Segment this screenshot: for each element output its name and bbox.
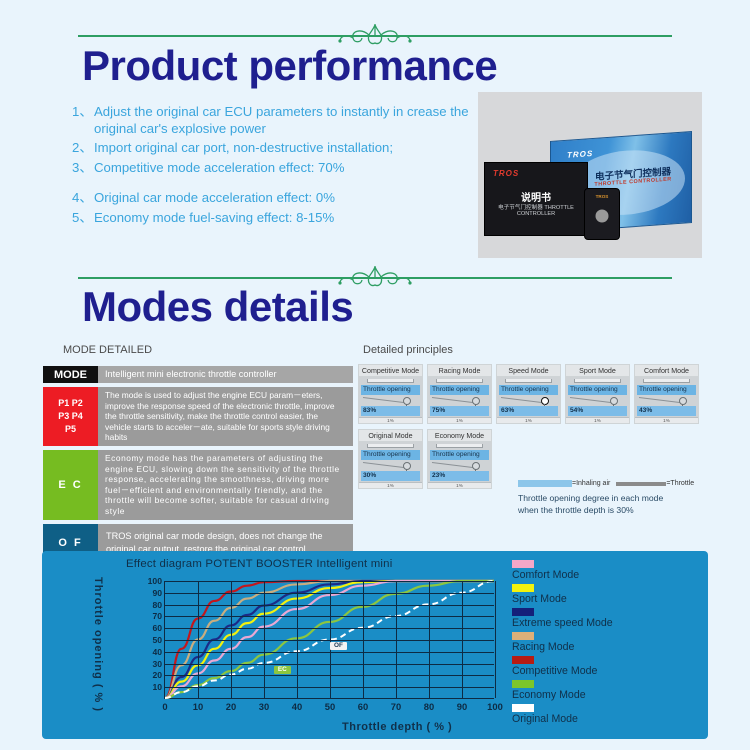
principle-legend: =Inhaling air =Throttle Throttle opening… — [518, 480, 733, 516]
principle-card: Economy ModeThrottle opening23%1% — [427, 429, 492, 489]
chart-x-tick-label: 40 — [292, 701, 302, 712]
chart-y-tick-label: 90 — [152, 588, 162, 598]
principle-card-gauge: Throttle opening63%1% — [497, 377, 560, 423]
chart-plot-area: 0102030405060708090100102030405060708090… — [164, 581, 494, 699]
gauge-marker-icon — [403, 397, 411, 405]
chart-y-tick-label: 60 — [152, 623, 162, 633]
throttle-opening-bar: Throttle opening — [568, 385, 627, 395]
chart-y-tick-label: 80 — [152, 600, 162, 610]
mode-table-key: P1 P2P3 P4P5 — [43, 387, 98, 446]
list-item-number: 4、 — [72, 190, 94, 207]
principle-card: Speed ModeThrottle opening63%1% — [496, 364, 561, 424]
chart-legend-label: Economy Mode — [512, 688, 702, 702]
gauge-foot-label: 1% — [635, 417, 698, 423]
list-item: 2、Import original car port, non-destruct… — [72, 140, 472, 157]
chart-legend-swatch — [512, 632, 534, 640]
chart-x-tick-label: 30 — [259, 701, 269, 712]
chart-gridline-horizontal — [165, 652, 494, 653]
chart-legend-swatch — [512, 680, 534, 688]
chart-annotation-of: OF — [330, 642, 347, 650]
principle-card-gauge: Throttle opening23%1% — [428, 442, 491, 488]
chart-gridline-horizontal — [165, 687, 494, 688]
gauge-foot-label: 1% — [359, 417, 422, 423]
chart-legend-swatch — [512, 704, 534, 712]
chart-gridline-vertical — [495, 581, 496, 698]
product-controller-device: TROS — [584, 188, 620, 240]
throttle-percent-bar: 83% — [361, 406, 420, 416]
throttle-opening-bar: Throttle opening — [430, 450, 489, 460]
chart-x-tick-label: 80 — [424, 701, 434, 712]
page-title-modes-details: Modes details — [82, 283, 353, 331]
product-performance-list: 1、Adjust the original car ECU parameters… — [72, 104, 472, 229]
inhaling-air-label: =Inhaling air — [572, 480, 610, 487]
chart-annotation-ec: EC — [274, 666, 291, 674]
gauge-slant-line — [570, 397, 612, 403]
chart-legend-label: Competitive Mode — [512, 664, 702, 678]
chart-x-tick-label: 100 — [487, 701, 503, 712]
mode-table-row: MODEIntelligent mini electronic throttle… — [43, 366, 353, 383]
gauge-slant-line — [432, 462, 474, 468]
gauge-marker-icon — [610, 397, 618, 405]
throttle-percent-bar: 43% — [637, 406, 696, 416]
caption-line-1: Throttle opening degree in each mode — [518, 492, 733, 504]
chart-gridline-horizontal — [165, 616, 494, 617]
throttle-opening-bar: Throttle opening — [430, 385, 489, 395]
gauge-marker-icon — [403, 462, 411, 470]
principle-card: Original ModeThrottle opening30%1% — [358, 429, 423, 489]
mode-table-description: Economy mode has the parameters of adjus… — [98, 450, 353, 520]
principle-card-title: Original Mode — [359, 430, 422, 442]
principle-card-gauge: Throttle opening30%1% — [359, 442, 422, 488]
chart-legend-item: Sport Mode — [512, 584, 702, 606]
principle-legend-swatches: =Inhaling air =Throttle — [518, 480, 733, 487]
product-photo: TROS 电子节气门控制器 THROTTLE CONTROLLER TROS 说… — [478, 92, 702, 258]
mode-detail-table: MODEIntelligent mini electronic throttle… — [43, 366, 353, 566]
gauge-marker-icon — [541, 397, 549, 405]
chart-legend-swatch — [512, 584, 534, 592]
list-item-number: 5、 — [72, 210, 94, 227]
gauge-foot-label: 1% — [566, 417, 629, 423]
chart-gridline-horizontal — [165, 593, 494, 594]
list-item-text: Economy mode fuel-saving effect: 8-15% — [94, 210, 472, 227]
chart-gridline-horizontal — [165, 628, 494, 629]
gauge-slant-line — [363, 462, 405, 468]
principle-card-title: Racing Mode — [428, 365, 491, 377]
mode-table-row: E CEconomy mode has the parameters of ad… — [43, 450, 353, 520]
chart-legend-swatch — [512, 656, 534, 664]
chart-title: Effect diagram POTENT BOOSTER Intelligen… — [126, 558, 392, 570]
principle-card: Comfort ModeThrottle opening43%1% — [634, 364, 699, 424]
mode-table-key: E C — [43, 450, 98, 520]
gauge-notch-icon — [367, 379, 414, 383]
list-item-text: Competitive mode acceleration effect: 70… — [94, 160, 472, 177]
chart-y-tick-label: 30 — [152, 659, 162, 669]
principle-card-row: Competitive ModeThrottle opening83%1%Rac… — [358, 364, 708, 424]
page-title-product-performance: Product performance — [82, 42, 497, 90]
chart-x-tick-label: 20 — [226, 701, 236, 712]
throttle-percent-bar: 23% — [430, 471, 489, 481]
principle-card-gauge: Throttle opening83%1% — [359, 377, 422, 423]
principle-card-title: Competitive Mode — [359, 365, 422, 377]
list-item-text: Adjust the original car ECU parameters t… — [94, 104, 472, 137]
chart-x-tick-label: 10 — [193, 701, 203, 712]
list-item-number: 2、 — [72, 140, 94, 157]
throttle-opening-bar: Throttle opening — [499, 385, 558, 395]
throttle-opening-bar: Throttle opening — [361, 450, 420, 460]
principle-card: Sport ModeThrottle opening54%1% — [565, 364, 630, 424]
chart-legend-item: Comfort Mode — [512, 560, 702, 582]
chart-legend: Comfort ModeSport ModeExtreme speed Mode… — [512, 560, 702, 728]
chart-y-tick-label: 40 — [152, 647, 162, 657]
box-brand-label: TROS — [567, 149, 593, 160]
throttle-label: =Throttle — [666, 480, 694, 487]
chart-legend-label: Sport Mode — [512, 592, 702, 606]
gauge-notch-icon — [643, 379, 690, 383]
gauge-notch-icon — [505, 379, 552, 383]
gauge-slant-line — [639, 397, 681, 403]
gauge-slant-line — [501, 397, 543, 403]
gauge-marker-icon — [472, 462, 480, 470]
principle-legend-caption: Throttle opening degree in each mode whe… — [518, 492, 733, 516]
chart-gridline-horizontal — [165, 664, 494, 665]
gauge-slant-line — [432, 397, 474, 403]
principle-card-title: Economy Mode — [428, 430, 491, 442]
principle-card: Competitive ModeThrottle opening83%1% — [358, 364, 423, 424]
manual-chinese-title: 说明书 — [485, 189, 587, 204]
chart-legend-item: Original Mode — [512, 704, 702, 726]
chart-legend-item: Economy Mode — [512, 680, 702, 702]
mode-table-description: Intelligent mini electronic throttle con… — [98, 366, 353, 383]
chart-legend-item: Competitive Mode — [512, 656, 702, 678]
gauge-foot-label: 1% — [428, 482, 491, 488]
list-item: 5、Economy mode fuel-saving effect: 8-15% — [72, 210, 472, 227]
manual-subtitle: 电子节气门控制器 THROTTLE CONTROLLER — [485, 203, 587, 217]
gauge-foot-label: 1% — [497, 417, 560, 423]
chart-legend-label: Racing Mode — [512, 640, 702, 654]
chart-y-tick-label: 10 — [152, 682, 162, 692]
device-brand-label: TROS — [585, 194, 619, 199]
gauge-notch-icon — [367, 444, 414, 448]
inhaling-air-swatch — [518, 480, 572, 487]
list-item: 4、Original car mode acceleration effect:… — [72, 190, 472, 207]
throttle-percent-bar: 63% — [499, 406, 558, 416]
chart-x-tick-label: 50 — [325, 701, 335, 712]
chart-legend-label: Comfort Mode — [512, 568, 702, 582]
gauge-marker-icon — [679, 397, 687, 405]
manual-brand-label: TROS — [493, 169, 519, 178]
caption-line-2: when the throttle depth is 30% — [518, 504, 733, 516]
mode-table-row: P1 P2P3 P4P5The mode is used to adjust t… — [43, 387, 353, 446]
principle-card-gauge: Throttle opening43%1% — [635, 377, 698, 423]
chart-y-tick-label: 70 — [152, 611, 162, 621]
list-item-number: 1、 — [72, 104, 94, 137]
chart-x-tick-label: 60 — [358, 701, 368, 712]
gauge-foot-label: 1% — [428, 417, 491, 423]
chart-x-tick-label: 70 — [391, 701, 401, 712]
detailed-principles-label: Detailed principles — [363, 344, 453, 356]
principle-card-gauge: Throttle opening54%1% — [566, 377, 629, 423]
chart-legend-item: Racing Mode — [512, 632, 702, 654]
list-item-text: Original car mode acceleration effect: 0… — [94, 190, 472, 207]
throttle-opening-bar: Throttle opening — [361, 385, 420, 395]
gauge-notch-icon — [436, 444, 483, 448]
throttle-swatch — [616, 482, 666, 486]
principle-card-gauge: Throttle opening75%1% — [428, 377, 491, 423]
list-item: 3、Competitive mode acceleration effect: … — [72, 160, 472, 177]
list-item-text: Import original car port, non-destructiv… — [94, 140, 472, 157]
chart-legend-swatch — [512, 608, 534, 616]
gauge-notch-icon — [436, 379, 483, 383]
mode-detailed-label: MODE DETAILED — [63, 344, 152, 356]
chart-legend-label: Extreme speed Mode — [512, 616, 702, 630]
chart-legend-item: Extreme speed Mode — [512, 608, 702, 630]
chart-gridline-horizontal — [165, 640, 494, 641]
principle-card-title: Comfort Mode — [635, 365, 698, 377]
list-item-number: 3、 — [72, 160, 94, 177]
principle-card-title: Sport Mode — [566, 365, 629, 377]
list-item: 1、Adjust the original car ECU parameters… — [72, 104, 472, 137]
chart-x-axis-label: Throttle depth ( % ) — [342, 721, 452, 733]
chart-gridline-horizontal — [165, 581, 494, 582]
chart-y-tick-label: 20 — [152, 670, 162, 680]
gauge-marker-icon — [472, 397, 480, 405]
chart-y-tick-label: 50 — [152, 635, 162, 645]
mode-table-key: MODE — [43, 366, 98, 383]
gauge-notch-icon — [574, 379, 621, 383]
chart-gridline-horizontal — [165, 675, 494, 676]
chart-legend-label: Original Mode — [512, 712, 702, 726]
chart-x-tick-label: 90 — [457, 701, 467, 712]
product-manual: TROS 说明书 电子节气门控制器 THROTTLE CONTROLLER — [484, 162, 588, 236]
mode-table-description: The mode is used to adjust the engine EC… — [98, 387, 353, 446]
chart-gridline-horizontal — [165, 605, 494, 606]
principle-cards-group: Competitive ModeThrottle opening83%1%Rac… — [358, 364, 708, 494]
chart-legend-swatch — [512, 560, 534, 568]
throttle-percent-bar: 30% — [361, 471, 420, 481]
gauge-foot-label: 1% — [359, 482, 422, 488]
throttle-percent-bar: 54% — [568, 406, 627, 416]
chart-x-tick-label: 0 — [162, 701, 167, 712]
chart-y-axis-label: Throttle opening ( % ) — [90, 577, 104, 712]
device-button-icon — [596, 210, 609, 223]
principle-card: Racing ModeThrottle opening75%1% — [427, 364, 492, 424]
chart-y-tick-label: 100 — [148, 576, 162, 586]
gauge-slant-line — [363, 397, 405, 403]
throttle-opening-bar: Throttle opening — [637, 385, 696, 395]
principle-card-title: Speed Mode — [497, 365, 560, 377]
throttle-percent-bar: 75% — [430, 406, 489, 416]
product-marketing-page: Product performance 1、Adjust the origina… — [0, 0, 750, 750]
effect-diagram-panel: Effect diagram POTENT BOOSTER Intelligen… — [42, 551, 708, 739]
